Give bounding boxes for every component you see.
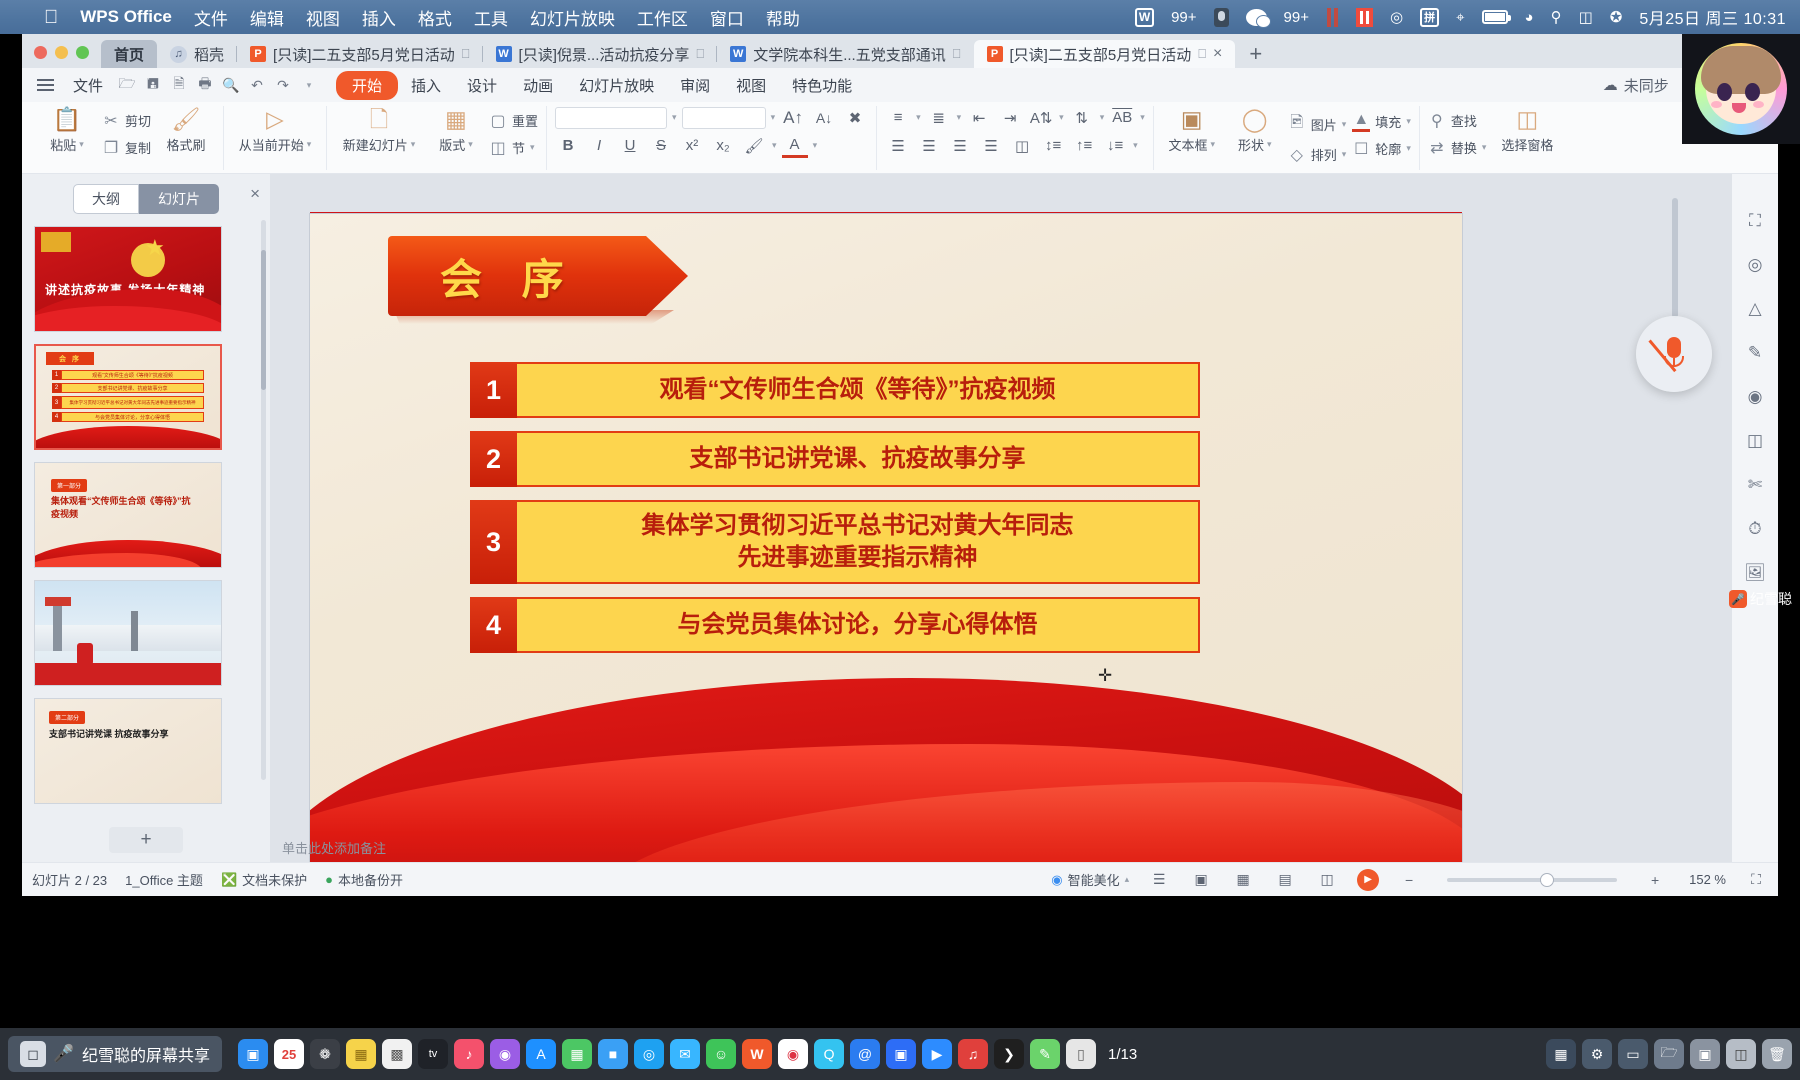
align-distribute-icon[interactable]: ◫ [1009,134,1035,158]
calendar-icon[interactable]: 25 [274,1039,304,1069]
print-preview-icon[interactable]: 🔍 [218,74,244,96]
agenda-text: 与会党员集体讨论，分享心得体悟 [517,597,1200,653]
thumb-section-tag: 第二部分 [49,711,85,724]
menubar-item-file[interactable]: 文件 [194,5,228,30]
from-current-label: 从当前开始 [239,135,304,154]
ppt-file-icon: P [250,46,266,62]
page-indicator: 1/13 [1108,1046,1137,1063]
text-highlight-icon[interactable]: 🖌 [741,134,767,158]
slide-thumbnail[interactable]: 第一部分 集体观看“文传师生合颂《等待》”抗疫视频 [34,462,222,568]
font-name-input[interactable] [555,107,667,129]
outline-icon: ☐ [1352,139,1370,159]
bullet-list-icon[interactable]: ≡ [885,106,911,130]
pause-red-icon[interactable] [1356,8,1373,27]
list-level-icon[interactable]: ↓≡ [1102,134,1128,158]
tab-doc-3-label: 文学院本科生...五党支部通讯 [753,44,946,65]
smart-beautify-button[interactable]: ◉ 智能美化 ▴ [1051,870,1129,889]
tab-home[interactable]: 首页 [101,40,157,68]
align-left-icon[interactable]: ☰ [885,134,911,158]
wps-menu-row: 文件 🗁 🖪 🗎 🖶 🔍 ↶ ↷ ▾ 开始 插入 设计 动画 幻灯片放映 审阅 … [22,68,1778,102]
paste-icon: 📋 [53,106,82,132]
ribbon-group-insert-objects: ▣ 文本框▾ ◯ 形状▾ 🖻 图片▾ ◇ 排列▾ [1153,106,1419,170]
control-center-icon[interactable]: ◫ [1579,8,1593,26]
outline-label: 轮廓 [1375,139,1401,158]
appstore-icon[interactable]: A [526,1039,556,1069]
notes-placeholder: 单击此处添加备注 [282,838,386,857]
section-label: 节 [512,138,525,157]
redo-icon[interactable]: ↷ [270,74,296,96]
tab-doc-2-label: [只读]倪景...活动抗疫分享 [519,44,690,65]
folder-icon[interactable]: 🗁 [1654,1039,1684,1069]
slide-thumbnail[interactable]: ★ 讲述抗疫故事 发扬大年精神 “二五支部醒神的党委 大年医师先生” 文学院本科… [34,226,222,332]
floating-mic-button[interactable] [1636,316,1712,392]
battery-icon[interactable] [1482,10,1508,24]
safari-icon[interactable]: ◎ [634,1039,664,1069]
from-current-slide-button[interactable]: ▷ 从当前开始▾ [232,106,318,154]
new-slide-button[interactable]: 🗋 新建幻灯片▾ [335,106,423,154]
file-menu-button[interactable]: 文件 [62,75,114,96]
subscript-button[interactable]: x₂ [710,134,736,158]
find-label: 查找 [1451,111,1477,130]
section-icon: ◫ [489,138,507,158]
slide-thumbnail[interactable]: 第二部分 支部书记讲党课 抗疫故事分享 [34,698,222,804]
arrange-button[interactable]: ◇ 排列▾ [1288,145,1347,165]
wechat-status-icon[interactable] [1246,9,1267,26]
fill-label: 填充 [1375,112,1401,131]
pause-dark-icon[interactable] [1326,8,1339,27]
copy-icon: ❐ [102,138,120,158]
new-slide-label: 新建幻灯片 [343,135,408,154]
active-slide[interactable]: 会 序 1 观看“文传师生合颂《等待》”抗疫视频 2 支部书记讲党课、抗疫故事分… [310,214,1462,874]
shape-icon: ◯ [1242,106,1268,132]
agenda-text: 支部书记讲党课、抗疫故事分享 [517,431,1200,487]
menubar-item-insert[interactable]: 插入 [362,5,396,30]
beautify-icon: ◉ [1051,872,1062,888]
finder-icon[interactable]: ▣ [238,1039,268,1069]
decrease-indent-icon[interactable]: ⇤ [966,106,992,130]
slide-counter[interactable]: 幻灯片 2 / 23 [32,870,107,889]
spotlight-search-icon[interactable]: ⚲ [1551,8,1562,26]
scissors-icon: ✂ [102,111,120,131]
document-tab-strip: 首页 ♫ 稻壳 P [只读]二五支部5月党日活动 ⎕ W [只读]倪景...活动… [22,34,1778,68]
underline-button[interactable]: U [617,134,643,158]
paste-label: 粘贴 [50,135,76,154]
backup-label: 本地备份开 [338,870,403,889]
webcam-user-name: 纪雪聪 [1750,589,1792,609]
ribbon-tab-design[interactable]: 设计 [454,72,510,99]
menubar-item-help[interactable]: 帮助 [766,5,800,30]
reading-view-icon[interactable]: ▤ [1273,869,1297,891]
ribbon-tab-animation[interactable]: 动画 [510,72,566,99]
slide-navigator-panel: 大纲 幻灯片 × ★ 讲述抗疫故事 发扬大年精神 “二五支部醒神的党委 大年医师… [22,174,270,862]
wechat-badge-count[interactable]: 99+ [1284,9,1309,26]
menubar-item-tools[interactable]: 工具 [474,5,508,30]
reset-icon: ▢ [489,111,507,131]
search-icon: ⚲ [1428,111,1446,131]
font-name-caret-icon[interactable]: ▾ [672,112,677,123]
copy-button[interactable]: ❐ 复制 [102,138,151,158]
thumb-section-title: 支部书记讲党课 抗疫故事分享 [49,727,207,740]
tab-doc-3[interactable]: W 文学院本科生...五党支部通讯 ⎕ [717,40,973,68]
ribbon-tab-start[interactable]: 开始 [336,71,398,100]
arrange-label: 排列 [1311,145,1337,164]
beautify-label: 智能美化 [1068,870,1120,889]
tab-doc-1-label: [只读]二五支部5月党日活动 [273,44,455,65]
presenter-monitor-icon[interactable]: ⎕ [696,46,704,62]
columns-icon[interactable]: AB [1109,106,1135,130]
screen-share-banner[interactable]: ◻ 🎤 纪雪聪的屏幕共享 [8,1036,222,1072]
maximize-window-button[interactable] [76,46,89,59]
align-justify-icon[interactable]: ☰ [978,134,1004,158]
screenshot-icon[interactable]: ▣ [1690,1039,1720,1069]
input-method-icon[interactable]: 拼 [1420,8,1439,27]
tab-docer-label: 稻壳 [194,44,224,65]
qq-icon[interactable]: Q [814,1039,844,1069]
bold-button[interactable]: B [555,134,581,158]
backup-icon: ● [325,872,333,887]
font-size-caret-icon[interactable]: ▾ [771,112,776,123]
outline-button[interactable]: ☐ 轮廓▾ [1352,139,1411,159]
netease-icon[interactable]: ♫ [958,1039,988,1069]
camera-icon[interactable]: ◻ [20,1041,46,1067]
tab-slides[interactable]: 幻灯片 [139,184,219,214]
navigator-tabs: 大纲 幻灯片 × [22,174,270,222]
ribbon-group-editing: ⚲ 查找 ⇄ 替换▾ ◫ 选择窗格 [1419,106,1571,170]
cloud-sync-icon[interactable]: ☁ [1603,76,1618,94]
word-file-icon: W [730,46,746,62]
photos-icon[interactable]: ❁ [310,1039,340,1069]
wps-status-icon[interactable]: W [1135,8,1154,27]
shield-icon: ❎ [221,872,237,888]
ribbon-tab-special[interactable]: 特色功能 [779,72,865,99]
presenter-monitor-icon[interactable]: ⎕ [953,46,961,62]
open-icon[interactable]: 🗁 [114,74,140,96]
agenda-number: 2 [470,431,517,487]
macos-menu-bar:  WPS Office 文件 编辑 视图 插入 格式 工具 幻灯片放映 工作区… [0,0,1800,34]
fill-icon: ▲ [1352,111,1370,132]
status-bar: 幻灯片 2 / 23 1_Office 主题 ❎ 文档未保护 ● 本地备份开 ◉… [22,862,1778,896]
tab-close-icon[interactable]: × [1213,45,1222,63]
ribbon-tab-insert[interactable]: 插入 [398,72,454,99]
ribbon-group-font: ▾ ▾ A↑ A↓ ✖ B I U S x² x₂ 🖌 [546,106,876,170]
settings-icon[interactable]: ⚙ [1582,1039,1612,1069]
apple-logo-icon[interactable]:  [44,8,58,27]
thumb-section-title: 集体观看“文传师生合颂《等待》”抗疫视频 [51,495,193,521]
thumb-row-text: 与会党员集体讨论，分享心得体悟 [61,412,204,422]
ribbon-tab-view[interactable]: 视图 [723,72,779,99]
shape-button[interactable]: ◯ 形状▾ [1228,106,1282,154]
navigator-scrollbar[interactable] [261,220,266,780]
save-icon[interactable]: 🖪 [140,74,166,96]
font-size-input[interactable] [682,107,766,129]
siri-icon[interactable]: ✪ [1610,8,1623,26]
presenter-monitor-icon[interactable]: ⎕ [1198,46,1206,62]
ribbon-group-slideshow: ▷ 从当前开始▾ [223,106,326,170]
superscript-button[interactable]: x² [679,134,705,158]
trash-icon[interactable]: 🗑 [1762,1039,1792,1069]
align-right-icon[interactable]: ☰ [947,134,973,158]
close-navigator-icon[interactable]: × [250,184,260,204]
thumb-row-text: 观看“文传师生合颂《等待》”抗疫视频 [61,370,204,380]
format-painter-icon: 🖌 [171,106,200,132]
add-slide-bar: + [22,818,270,862]
agenda-row[interactable]: 4 与会党员集体讨论，分享心得体悟 [470,597,1200,653]
note-view-icon[interactable]: ◫ [1315,869,1339,891]
mic-status-icon[interactable] [1214,8,1229,27]
slide-thumbnail[interactable] [34,580,222,686]
wps-badge-count[interactable]: 99+ [1171,9,1196,26]
reset-button[interactable]: ▢ 重置 [489,111,538,131]
find-button[interactable]: ⚲ 查找 [1428,111,1487,131]
outline-view-icon[interactable]: ☰ [1147,869,1171,891]
minimize-window-button[interactable] [55,46,68,59]
close-window-button[interactable] [34,46,47,59]
strikethrough-button[interactable]: S [648,134,674,158]
agenda-list: 1 观看“文传师生合颂《等待》”抗疫视频 2 支部书记讲党课、抗疫故事分享 3 … [470,362,1200,653]
selection-pane-button[interactable]: ◫ 选择窗格 [1492,106,1562,154]
agenda-text: 集体学习贯彻习近平总书记对黄大年同志 先进事迹重要指示精神 [517,500,1200,584]
terminal-icon[interactable]: ❯ [994,1039,1024,1069]
word-file-icon: W [496,46,512,62]
menubar-item-format[interactable]: 格式 [418,5,452,30]
podcast-icon[interactable]: ◉ [490,1039,520,1069]
mic-icon[interactable]: 🎤 [54,1042,74,1066]
textbox-label: 文本框 [1168,135,1207,154]
tab-doc-1[interactable]: P [只读]二五支部5月党日活动 ⎕ [237,40,483,68]
wps-window: 首页 ♫ 稻壳 P [只读]二五支部5月党日活动 ⎕ W [只读]倪景...活动… [22,34,1778,896]
layout-label: 版式 [439,135,465,154]
tab-outline[interactable]: 大纲 [73,184,139,214]
selection-pane-icon: ◫ [1517,106,1539,132]
picture-button[interactable]: 🖻 图片▾ [1288,111,1347,138]
memo-icon[interactable]: ✎ [1030,1039,1060,1069]
agenda-row[interactable]: 1 观看“文传师生合颂《等待》”抗疫视频 [470,362,1200,418]
sorter-view-icon[interactable]: ▦ [1231,869,1255,891]
ribbon-toolbar: 📋 粘贴▾ ✂ 剪切 ❐ 复制 🖌 格式刷 [22,102,1778,174]
zoom-slider[interactable] [1447,878,1617,882]
font-color-icon[interactable]: A [782,134,808,158]
bluetooth-icon[interactable]: ⌖ [1456,9,1464,26]
docer-icon: ♫ [170,46,187,63]
menubar-app-name[interactable]: WPS Office [80,7,172,27]
numbers-icon[interactable]: ▦ [562,1039,592,1069]
format-painter-button[interactable]: 🖌 格式刷 [157,106,215,154]
dingtalk-icon[interactable]: @ [850,1039,880,1069]
shrink-font-icon[interactable]: A↓ [811,106,837,130]
ppt-file-icon: P [987,46,1003,62]
replace-label: 替换 [1451,138,1477,157]
thumb-row-text: 支部书记讲党课、抗疫故事分享 [61,383,204,393]
notes-icon[interactable]: ▦ [346,1039,376,1069]
undo-icon[interactable]: ↶ [244,74,270,96]
document-icon[interactable]: ▯ [1066,1039,1096,1069]
new-slide-icon: 🗋 [370,106,389,132]
align-text-icon[interactable]: ⇅ [1069,106,1095,130]
zoom-icon[interactable]: ▶ [922,1039,952,1069]
italic-button[interactable]: I [586,134,612,158]
textbox-icon: ▣ [1181,106,1203,132]
menubar-item-edit[interactable]: 编辑 [250,5,284,30]
agenda-number: 1 [470,362,517,418]
reminders-icon[interactable]: ▩ [382,1039,412,1069]
print-icon[interactable]: 🖶 [192,74,218,96]
ribbon-tab-review[interactable]: 审阅 [667,72,723,99]
backup-status[interactable]: ● 本地备份开 [325,870,403,889]
wifi-icon[interactable]: ◕ [1525,9,1534,26]
reset-label: 重置 [512,111,538,130]
agenda-number: 4 [470,597,517,653]
dock-bar: ◻ 🎤 纪雪聪的屏幕共享 ▣ 25 ❁ ▦ ▩ tv ♪ ◉ A ▦ ■ ◎ ✉… [0,1028,1800,1080]
tab-home-label: 首页 [114,44,144,65]
line-spacing-icon[interactable]: ↕≡ [1040,134,1066,158]
paragraph-spacing-icon[interactable]: ↑≡ [1071,134,1097,158]
thumb-banner-title: 会 序 [46,352,94,365]
keynote-icon[interactable]: ■ [598,1039,628,1069]
zoom-out-button[interactable]: − [1397,869,1421,891]
canvas-scrollbar[interactable] [1672,198,1678,818]
text-direction-icon[interactable]: A⇅ [1028,106,1054,130]
clear-format-icon[interactable]: ✖ [842,106,868,130]
slide-canvas-area[interactable]: 会 序 1 观看“文传师生合颂《等待》”抗疫视频 2 支部书记讲党课、抗疫故事分… [270,174,1732,862]
replace-icon: ⇄ [1428,138,1446,158]
selection-pane-label: 选择窗格 [1501,135,1553,154]
chrome-icon[interactable]: ◉ [778,1039,808,1069]
protection-status[interactable]: ❎ 文档未保护 [221,870,307,889]
paste-button[interactable]: 📋 粘贴▾ [38,106,96,154]
agenda-row[interactable]: 2 支部书记讲党课、抗疫故事分享 [470,431,1200,487]
cut-button[interactable]: ✂ 剪切 [102,111,151,131]
layout-icon: ▦ [445,106,467,132]
cut-label: 剪切 [125,111,151,130]
picture-label: 图片 [1311,115,1337,134]
window-traffic-lights [22,46,101,68]
add-slide-button[interactable]: + [109,827,183,853]
play-circle-icon: ▷ [266,106,284,132]
replace-button[interactable]: ⇄ 替换▾ [1428,138,1487,158]
section-button[interactable]: ◫ 节 ▾ [489,138,538,158]
tab-doc-4-active[interactable]: P [只读]二五支部5月党日活动 ⎕ × [974,40,1236,68]
agenda-number: 3 [470,500,517,584]
numbered-list-icon[interactable]: ≣ [926,106,952,130]
agenda-text: 观看“文传师生合颂《等待》”抗疫视频 [517,362,1200,418]
shape-label: 形状 [1238,135,1264,154]
share-label: 纪雪聪的屏幕共享 [82,1042,210,1066]
appletv-icon[interactable]: tv [418,1039,448,1069]
format-painter-label: 格式刷 [167,135,206,154]
mail-icon[interactable]: ✉ [670,1039,700,1069]
app-menu-icon[interactable] [32,79,58,91]
customize-quick-access-icon[interactable]: ▾ [296,74,322,96]
menubar-item-view[interactable]: 视图 [306,5,340,30]
mouse-cursor-icon: ✛ [1098,666,1114,684]
presenter-monitor-icon[interactable]: ⎕ [462,46,470,62]
zoom-level-label[interactable]: 152 % [1689,872,1726,887]
ribbon-tab-slideshow[interactable]: 幻灯片放映 [566,72,667,99]
slide-thumbnail-list[interactable]: ★ 讲述抗疫故事 发扬大年精神 “二五支部醒神的党委 大年医师先生” 文学院本科… [22,222,270,818]
mic-muted-icon [1664,337,1684,371]
tab-doc-4-label: [只读]二五支部5月党日活动 [1010,44,1192,65]
editor-body: 大纲 幻灯片 × ★ 讲述抗疫故事 发扬大年精神 “二五支部醒神的党委 大年医师… [22,174,1778,862]
music-icon[interactable]: ♪ [454,1039,484,1069]
thumb-row-text: 集体学习贯彻习近平总书记对黄大年同志先进事迹重要指示精神 [61,396,204,409]
align-center-icon[interactable]: ☰ [916,134,942,158]
media-play-status-icon[interactable]: ◎ [1390,8,1403,26]
display-icon[interactable]: ▭ [1618,1039,1648,1069]
webcam-name-chip: 🎤 纪雪聪 [1729,118,1792,1080]
thumb-section-tag: 第一部分 [51,479,87,492]
copy-label: 复制 [125,138,151,157]
zoom-in-button[interactable]: + [1643,869,1667,891]
wps-icon[interactable]: W [742,1039,772,1069]
mic-icon: 🎤 [1729,590,1747,608]
fill-button[interactable]: ▲ 填充▾ [1352,111,1411,132]
normal-view-icon[interactable]: ▣ [1189,869,1213,891]
ribbon-group-slides: 🗋 新建幻灯片▾ ▦ 版式▾ ▢ 重置 ◫ 节 ▾ [326,106,546,170]
textbox-button[interactable]: ▣ 文本框▾ [1162,106,1222,154]
menubar-item-slideshow[interactable]: 幻灯片放映 [530,5,615,30]
launchpad-icon[interactable]: ▦ [1546,1039,1576,1069]
tab-docer[interactable]: ♫ 稻壳 [157,40,237,68]
meeting-icon[interactable]: ▣ [886,1039,916,1069]
ribbon-group-paragraph: ≡▾ ≣▾ ⇤ ⇥ A⇅▾ ⇅▾ AB▾ ☰ ☰ ☰ ☰ ◫ ↕≡ [876,106,1153,170]
start-slideshow-button[interactable]: ▶ [1357,869,1379,891]
layout-button[interactable]: ▦ 版式▾ [429,106,483,154]
menubar-item-window[interactable]: 窗口 [710,5,744,30]
slide-thumbnail-selected[interactable]: 会 序 1观看“文传师生合颂《等待》”抗疫视频 2支部书记讲党课、抗疫故事分享 … [34,344,222,450]
protection-label: 文档未保护 [242,870,307,889]
wechat-icon[interactable]: ☺ [706,1039,736,1069]
screen-root:  WPS Office 文件 编辑 视图 插入 格式 工具 幻灯片放映 工作区… [0,0,1800,1080]
menubar-clock[interactable]: 5月25日 周三 10:31 [1639,5,1786,29]
camera2-icon[interactable]: ◫ [1726,1039,1756,1069]
export-pdf-icon[interactable]: 🗎 [166,74,192,96]
increase-indent-icon[interactable]: ⇥ [997,106,1023,130]
slide-banner[interactable]: 会 序 [388,236,688,316]
agenda-row[interactable]: 3 集体学习贯彻习近平总书记对黄大年同志 先进事迹重要指示精神 [470,500,1200,584]
tab-doc-2[interactable]: W [只读]倪景...活动抗疫分享 ⎕ [483,40,718,68]
ribbon-group-clipboard: 📋 粘贴▾ ✂ 剪切 ❐ 复制 🖌 格式刷 [30,106,223,170]
grow-font-icon[interactable]: A↑ [780,106,806,130]
arrange-icon: ◇ [1288,145,1306,165]
picture-icon: 🖻 [1288,111,1306,138]
menubar-item-workspace[interactable]: 工作区 [637,5,688,30]
banner-title: 会 序 [388,236,688,316]
notes-area[interactable]: 单击此处添加备注 [270,832,1732,862]
new-tab-button[interactable]: + [1235,40,1276,68]
theme-name[interactable]: 1_Office 主题 [125,870,203,889]
sync-status-label[interactable]: 未同步 [1624,75,1669,96]
